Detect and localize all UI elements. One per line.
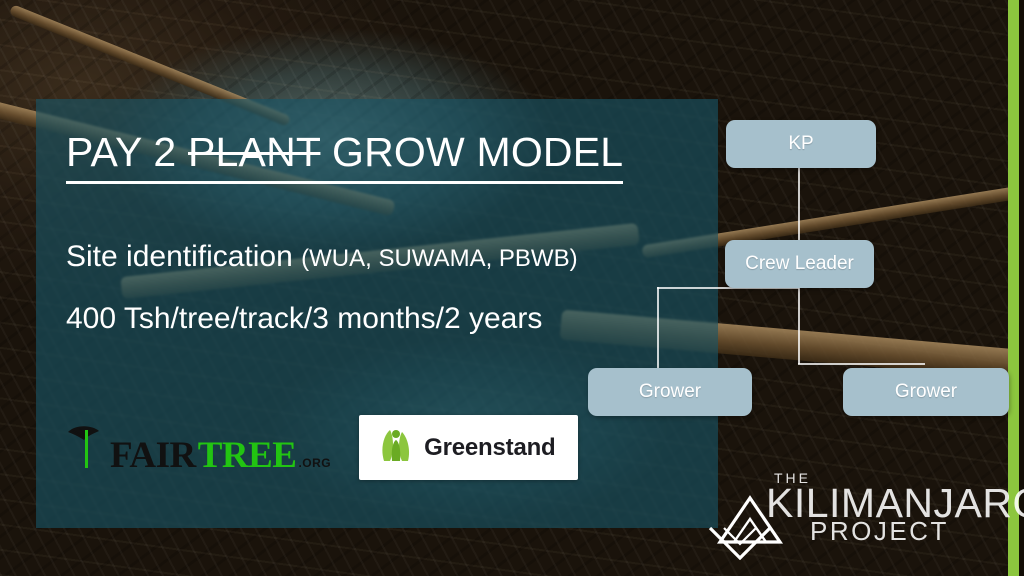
bullet-site-identification: Site identification (WUA, SUWAMA, PBWB)	[66, 240, 688, 274]
content-panel: PAY 2 PLANT GROW MODEL Site identificati…	[36, 99, 718, 528]
accent-stripe	[1008, 0, 1019, 576]
title-segment-2: GROW MODEL	[320, 129, 623, 175]
bullet-payment-terms: 400 Tsh/tree/track/3 months/2 years	[66, 302, 688, 336]
bullet-site-identification-sub: (WUA, SUWAMA, PBWB)	[301, 245, 577, 272]
org-node-grower-right[interactable]: Grower	[843, 368, 1009, 416]
fairtree-logo-suffix: .ORG	[298, 456, 331, 473]
logo-row: FAIR TREE .ORG Greenstand	[66, 415, 578, 480]
greenstand-leaf-icon	[381, 428, 411, 467]
greenstand-logo: Greenstand	[359, 415, 577, 480]
acacia-tree-icon	[66, 422, 106, 473]
fairtree-logo: FAIR TREE .ORG	[66, 422, 331, 473]
fairtree-logo-word-fair: FAIR	[110, 439, 196, 473]
org-node-crew-leader[interactable]: Crew Leader	[725, 240, 874, 288]
slide-right-edge	[1019, 0, 1024, 576]
org-node-kp[interactable]: KP	[726, 120, 876, 168]
bullet-site-identification-main: Site identification	[66, 240, 301, 273]
page-title: PAY 2 PLANT GROW MODEL	[66, 131, 623, 184]
org-node-grower-left[interactable]: Grower	[588, 368, 752, 416]
greenstand-logo-name: Greenstand	[424, 434, 555, 462]
title-segment-1: PAY 2	[66, 129, 188, 175]
fairtree-logo-word-tree: TREE	[198, 439, 297, 473]
presentation-slide: PAY 2 PLANT GROW MODEL Site identificati…	[0, 0, 1024, 576]
title-segment-strikethrough: PLANT	[188, 129, 320, 175]
